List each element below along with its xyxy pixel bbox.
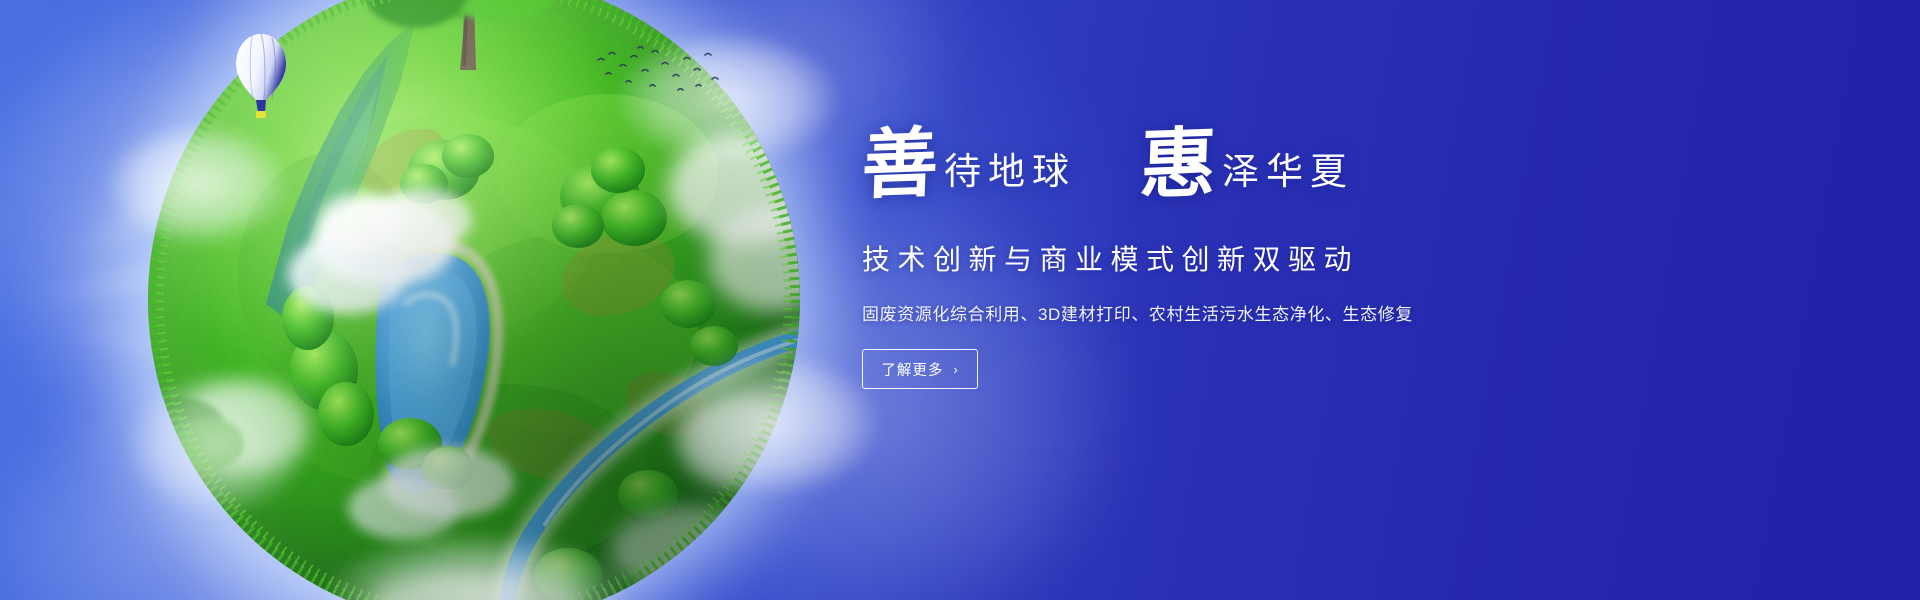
hero-description: 固废资源化综合利用、3D建材打印、农村生活污水生态净化、生态修复 bbox=[862, 300, 1702, 325]
hero-text-block: 善 待地球 惠 泽华夏 技术创新与商业模式创新双驱动 固废资源化综合利用、3D建… bbox=[862, 126, 1702, 389]
learn-more-button[interactable]: 了解更多 › bbox=[862, 349, 978, 389]
birds-flock-icon bbox=[592, 46, 722, 98]
chevron-right-icon: › bbox=[953, 362, 958, 377]
headline-brush-char-2: 惠 bbox=[1139, 125, 1224, 204]
headline-brush-char-1: 善 bbox=[861, 125, 946, 204]
edge-cloud bbox=[668, 354, 878, 494]
edge-cloud bbox=[128, 374, 308, 514]
hero-subtitle: 技术创新与商业模式创新双驱动 bbox=[862, 238, 1702, 278]
learn-more-label: 了解更多 bbox=[881, 359, 943, 380]
headline-rest-1: 待地球 bbox=[944, 154, 1076, 191]
hero-headline: 善 待地球 惠 泽华夏 bbox=[862, 126, 1702, 222]
headline-rest-2: 泽华夏 bbox=[1222, 154, 1354, 191]
edge-cloud bbox=[108, 124, 288, 244]
hero-banner: 善 待地球 惠 泽华夏 技术创新与商业模式创新双驱动 固废资源化综合利用、3D建… bbox=[0, 0, 1920, 600]
hot-air-balloon-icon bbox=[232, 32, 290, 124]
